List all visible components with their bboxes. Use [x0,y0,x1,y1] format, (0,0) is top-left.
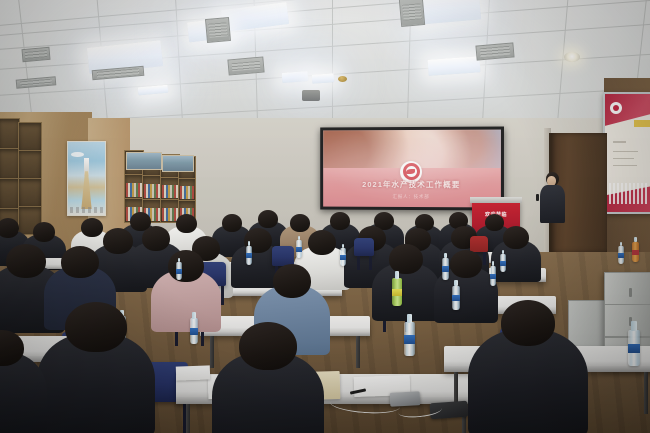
audience-member-head [501,300,555,346]
audience-member-head [239,322,297,370]
audience-member-head [65,302,127,352]
audience-row-1 [0,0,650,433]
conference-room-photo: 2021年水产技术工作概要 汇报人：技术部 欢迎莅临 [0,0,650,433]
